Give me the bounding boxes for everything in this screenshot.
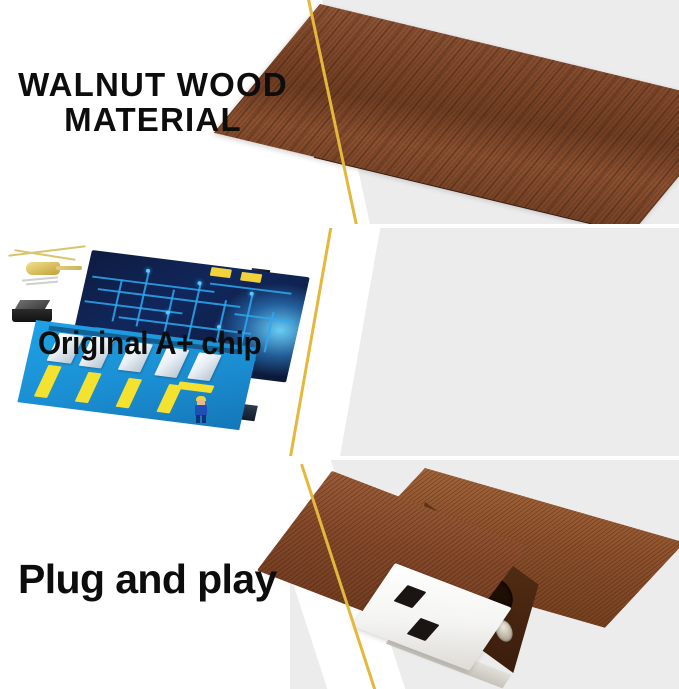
helicopter-icon — [8, 242, 92, 290]
headline-plug-and-play: Plug and play — [18, 558, 277, 601]
worker-figure-icon — [193, 396, 209, 422]
gold-contact-strip — [115, 378, 142, 408]
dark-component-icon — [12, 300, 52, 322]
band-original-chip: Original A+ chip — [0, 228, 679, 456]
gold-contact-strip — [75, 372, 102, 403]
band-walnut-wood: WALNUT WOOD MATERIAL — [0, 0, 679, 224]
headline-walnut-wood: WALNUT WOOD MATERIAL — [12, 68, 294, 138]
product-infographic: WALNUT WOOD MATERIAL — [0, 0, 679, 689]
chip-gold-pad — [210, 267, 232, 278]
band-mid-grey-panel — [330, 228, 679, 456]
headline-original-chip: Original A+ chip — [38, 327, 261, 361]
walnut-plank-image — [300, 0, 679, 224]
gold-contact-strip — [177, 381, 215, 393]
gold-contact-strip — [34, 365, 62, 398]
usb-slot-lower — [407, 618, 440, 641]
band-plug-and-play: Plug and play — [0, 460, 679, 689]
usb-slot-upper — [394, 585, 427, 608]
